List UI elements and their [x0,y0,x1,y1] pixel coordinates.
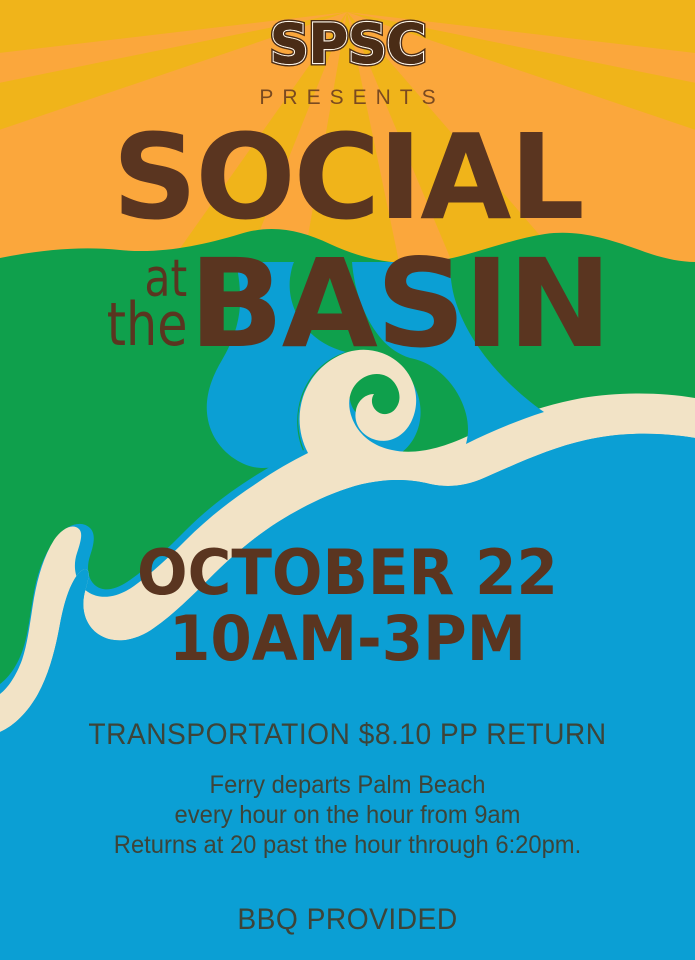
ferry-line-1: Ferry departs Palm Beach [17,770,677,800]
event-time: 10AM-3PM [14,606,681,672]
date-time-block: OCTOBER 22 10AM-3PM [0,540,695,672]
presents-label: PRESENTS [0,86,695,110]
title-basin-row: at the BASIN [0,248,695,360]
title-social: SOCIAL [0,118,695,236]
bbq-note: BBQ PROVIDED [21,902,674,938]
transport-cost: TRANSPORTATION $8.10 PP RETURN [21,716,674,754]
ferry-line-2: every hour on the hour from 9am [17,800,677,830]
spsc-logo-core: SPSC [0,17,695,72]
spsc-logo: SPSC SPSC SPSC [0,17,695,72]
title-the-word: the [107,301,188,350]
event-date: OCTOBER 22 [14,540,681,606]
ferry-line-3: Returns at 20 past the hour through 6:20… [17,830,677,860]
ferry-schedule: Ferry departs Palm Beach every hour on t… [0,770,695,860]
details-block: TRANSPORTATION $8.10 PP RETURN Ferry dep… [0,716,695,938]
title-basin: BASIN [189,248,610,360]
title-at-the: at the [89,258,187,360]
poster-canvas: SPSC SPSC SPSC PRESENTS SOCIAL at the BA… [0,0,695,960]
